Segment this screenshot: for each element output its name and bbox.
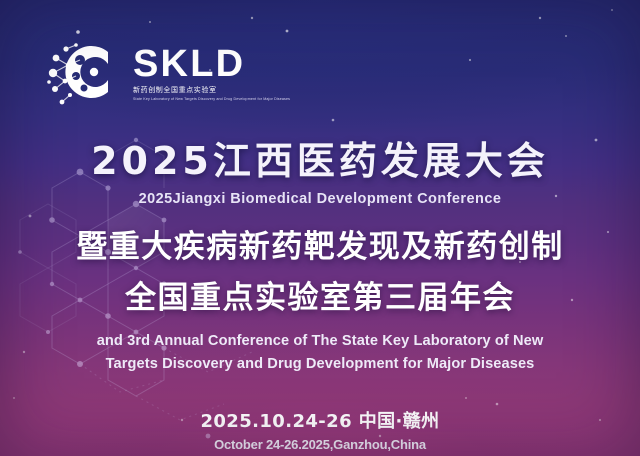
subtitle-cn-line2: 全国重点实验室第三届年会: [0, 272, 640, 317]
event-date-en: October 24-26.2025,Ganzhou,China: [0, 437, 640, 452]
subtitle-en-line1: and 3rd Annual Conference of The State K…: [0, 330, 640, 353]
main-title-cn: 2025江西医药发展大会: [0, 130, 640, 185]
subtitle-cn-line1: 暨重大疾病新药靶发现及新药创制: [0, 221, 640, 266]
poster-content: 2025江西医药发展大会 2025Jiangxi Biomedical Deve…: [0, 0, 640, 452]
event-date-cn: 2025.10.24-26 中国·赣州: [0, 407, 640, 433]
subtitle-en-line2: Targets Discovery and Drug Development f…: [0, 353, 640, 376]
conference-poster: SKLD 新药创制全国重点实验室 State Key Laboratory of…: [0, 0, 640, 456]
main-title-en: 2025Jiangxi Biomedical Development Confe…: [0, 191, 640, 207]
